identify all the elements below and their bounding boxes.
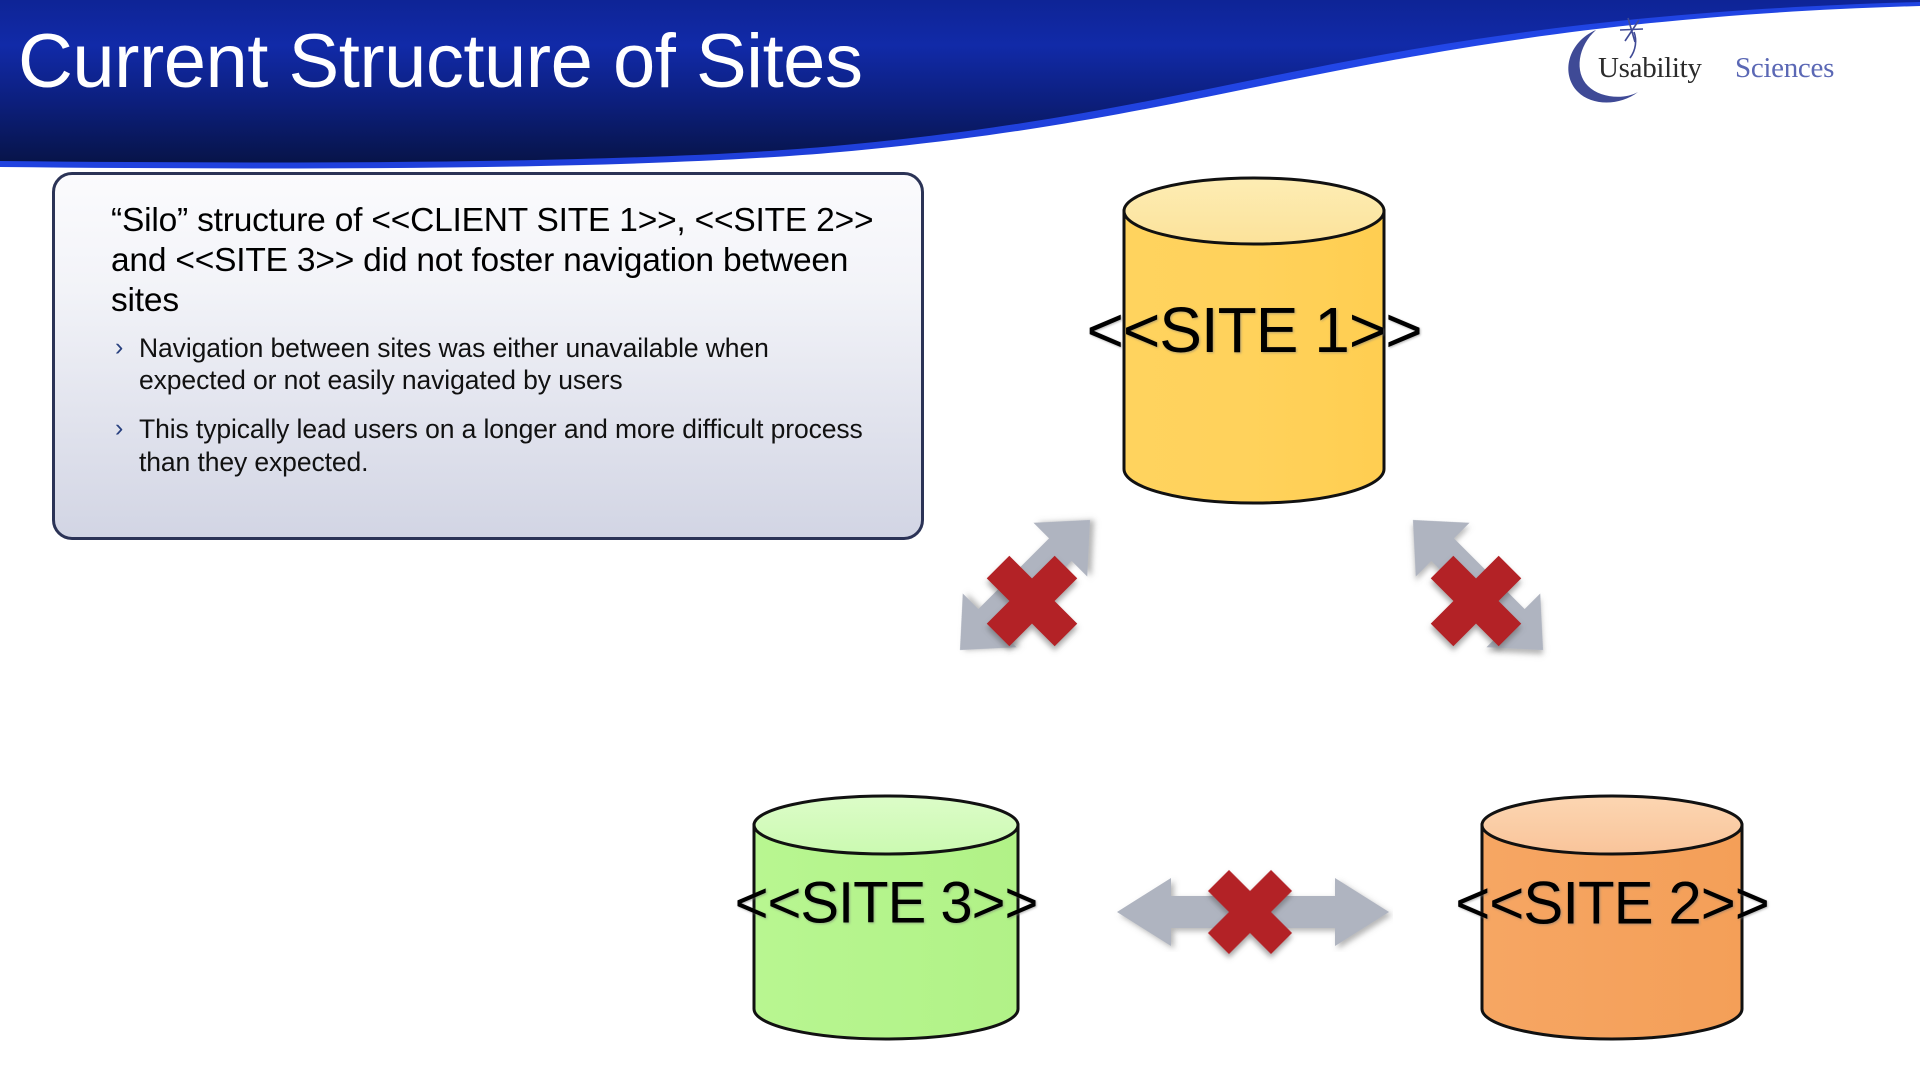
connector-site1-site3 — [925, 485, 1125, 685]
node-label-site3: <<SITE 3>> — [735, 870, 1038, 937]
list-item: › Navigation between sites was either un… — [111, 332, 891, 398]
red-x-icon-site1-site3 — [976, 545, 1088, 657]
connector-site3-site2 — [1113, 872, 1393, 952]
bullet-text: This typically lead users on a longer an… — [139, 413, 869, 479]
silo-relationship-diagram: <<SITE 1>> <<SITE 3>> — [0, 0, 1920, 1080]
node-label-site2: <<SITE 2>> — [1455, 869, 1769, 938]
red-x-icon-site1-site2 — [1420, 545, 1532, 657]
logo-word-sciences: Sciences — [1735, 52, 1834, 85]
red-x-icon-site3-site2 — [1198, 860, 1302, 964]
slide-canvas: Current Structure of Sites Usability Sci… — [0, 0, 1920, 1080]
page-title: Current Structure of Sites — [18, 24, 1218, 100]
callout-text-box: “Silo” structure of <<CLIENT SITE 1>>, <… — [52, 172, 924, 540]
node-site2-cylinder: <<SITE 2>> — [1478, 793, 1746, 1043]
node-site1-cylinder: <<SITE 1>> — [1120, 175, 1388, 505]
chevron-right-icon: › — [115, 332, 139, 363]
node-site3-cylinder: <<SITE 3>> — [750, 793, 1022, 1043]
callout-lead-text: “Silo” structure of <<CLIENT SITE 1>>, <… — [111, 201, 891, 322]
logo-usability-sciences: Usability Sciences — [1540, 8, 1810, 118]
chevron-right-icon: › — [115, 413, 139, 444]
list-item: › This typically lead users on a longer … — [111, 413, 891, 479]
node-label-site1: <<SITE 1>> — [1086, 293, 1421, 367]
logo-word-usability: Usability — [1598, 52, 1702, 85]
connector-site1-site2 — [1378, 485, 1578, 685]
bullet-text: Navigation between sites was either unav… — [139, 332, 869, 398]
